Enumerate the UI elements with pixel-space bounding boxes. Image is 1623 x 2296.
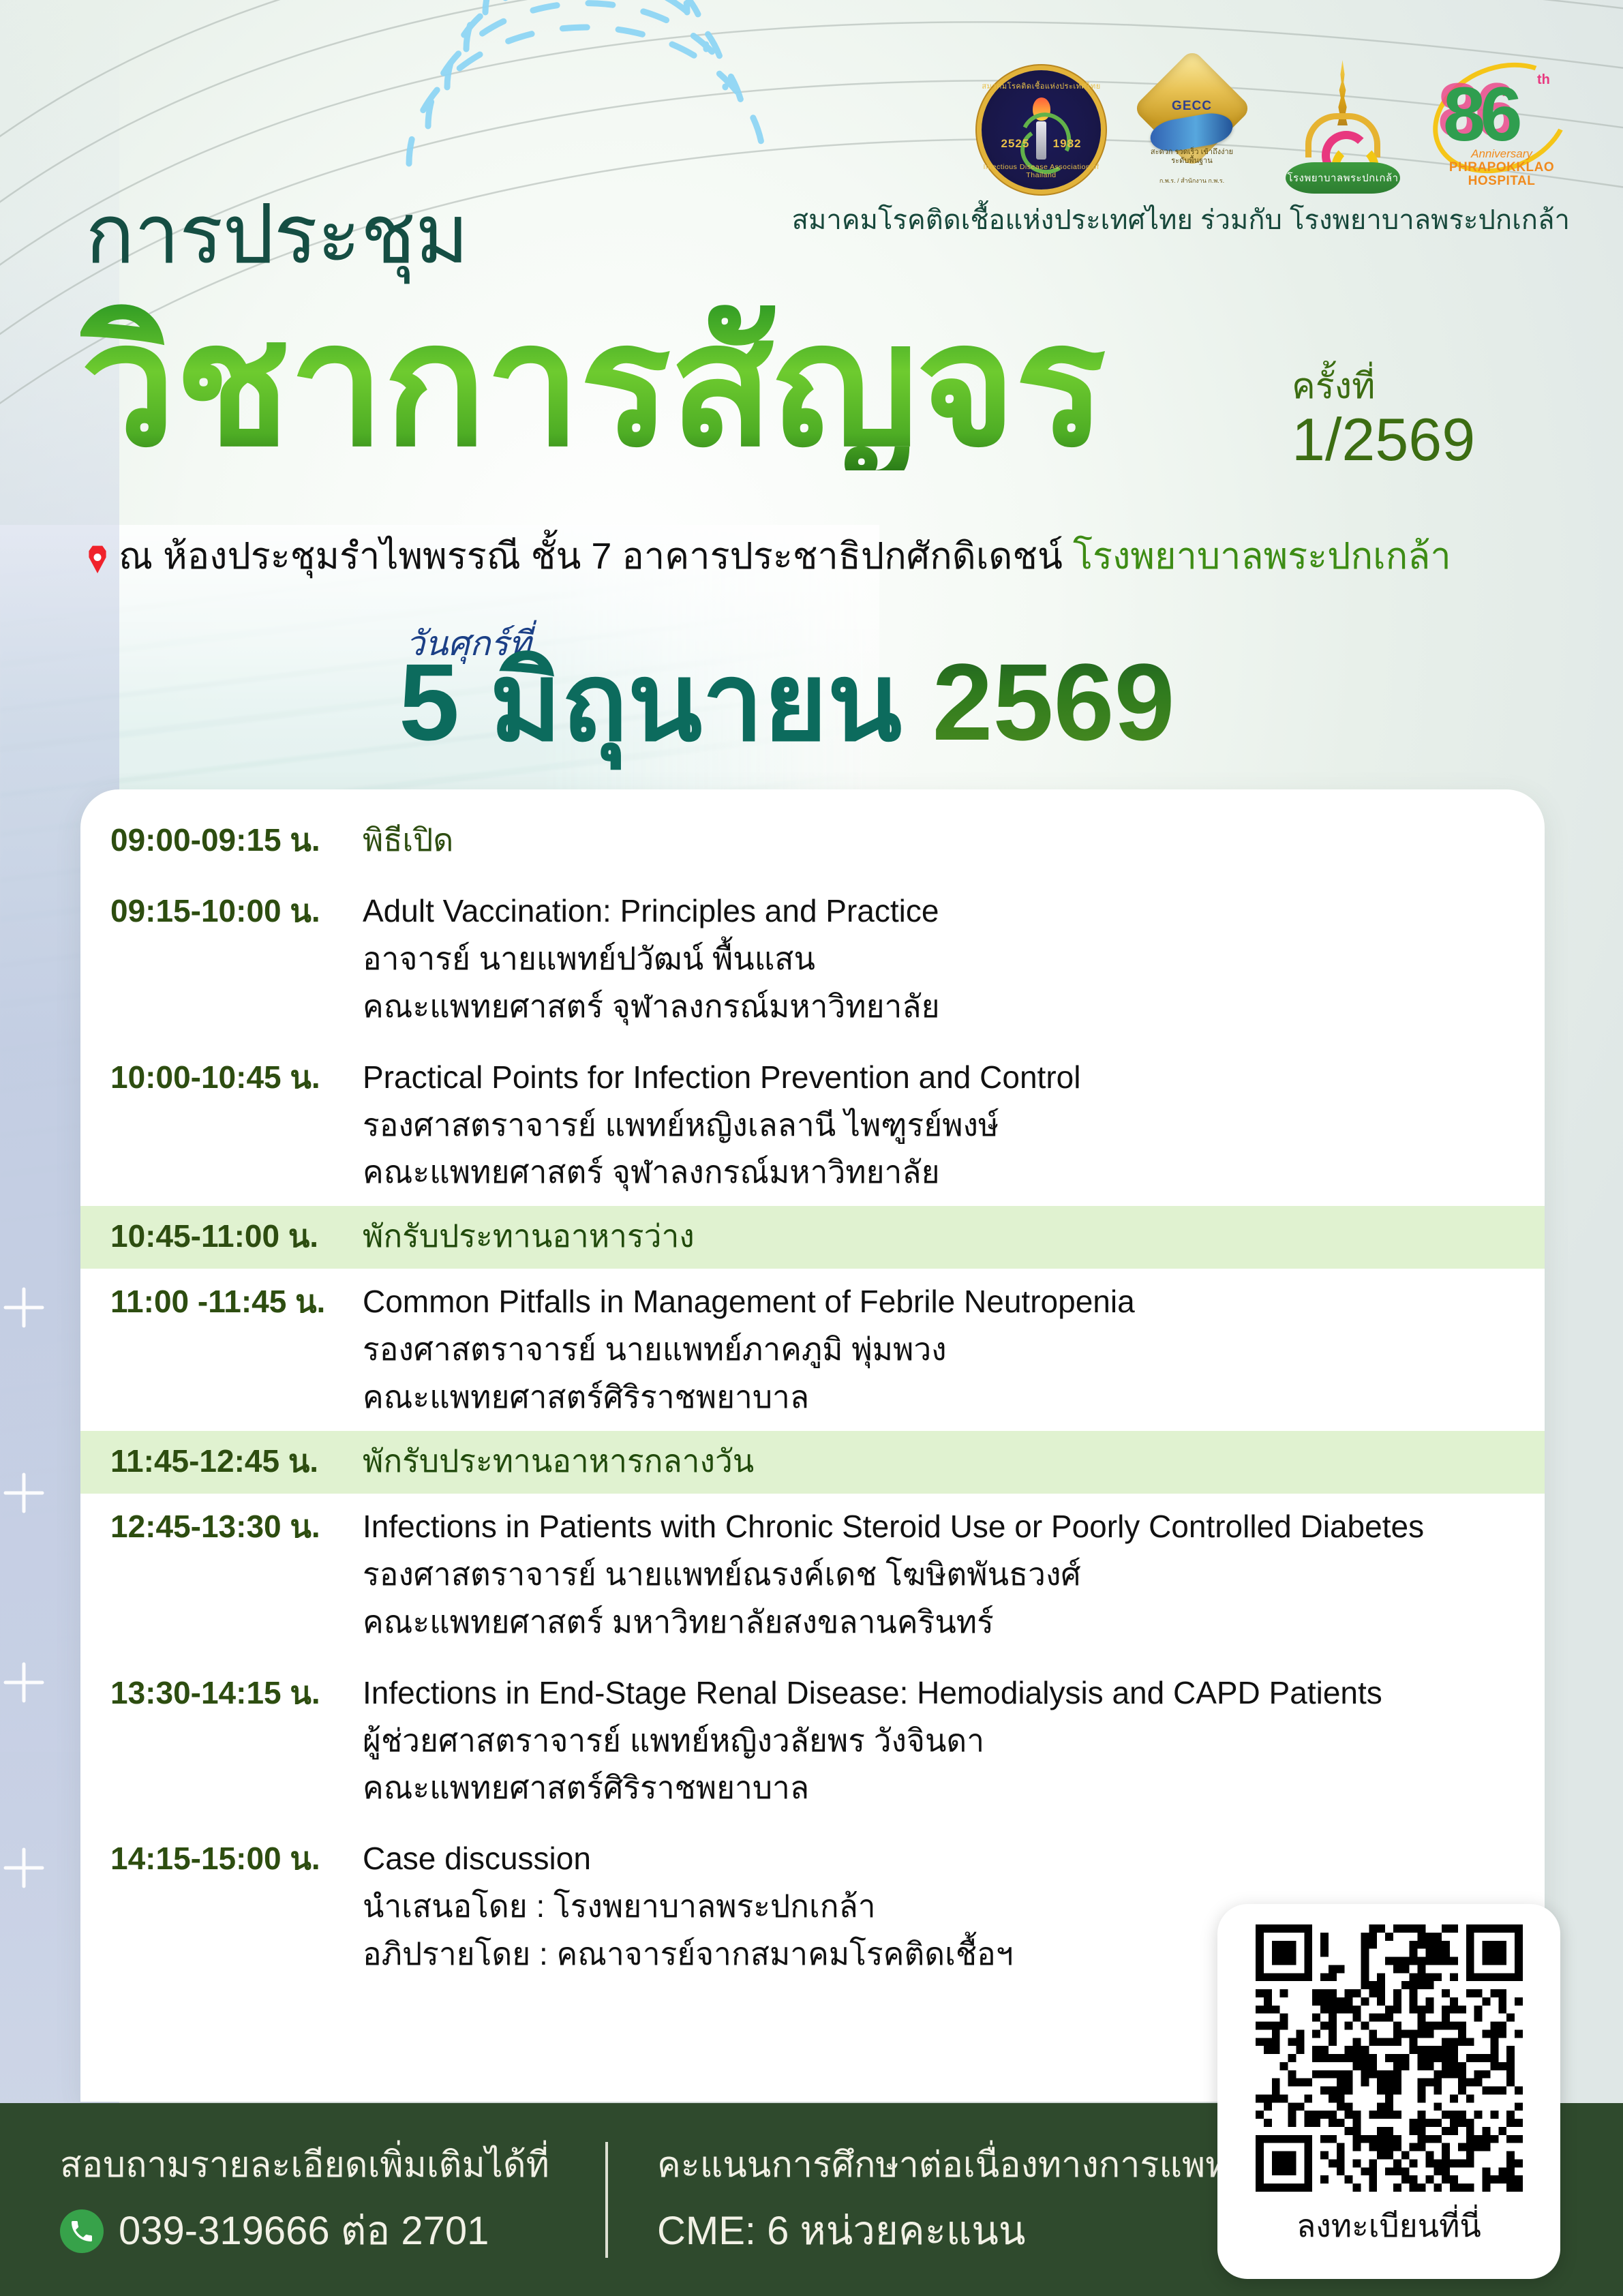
organizers-line: สมาคมโรคติดเชื้อแห่งประเทศไทย ร่วมกับ โร… [792,198,1570,241]
schedule-body: Practical Points for Infection Preventio… [363,1054,1515,1197]
pkk-ribbon: โรงพยาบาลพระปกเกล้า [1286,162,1400,194]
ida-top-text: สมาคมโรคติดเชื้อแห่งประเทศไทย [982,80,1101,92]
ida-thailand-logo: สมาคมโรคติดเชื้อแห่งประเทศไทย 2525 1982 … [982,70,1101,190]
schedule-body: Adult Vaccination: Principles and Practi… [363,888,1515,1031]
schedule-time: 09:15-10:00 น. [110,888,363,935]
venue-line: ณ ห้องประชุมรำไพพรรณี ชั้น 7 อาคารประชาธ… [87,526,1451,585]
schedule-topic: Infections in Patients with Chronic Ster… [363,1503,1515,1551]
schedule-topic: พักรับประทานอาหารกลางวัน [363,1438,1515,1485]
schedule-time: 11:00 -11:45 น. [110,1278,363,1326]
schedule-affiliation: คณะแพทยศาสตร์ จุฬาลงกรณ์มหาวิทยาลัย [363,983,1515,1031]
schedule-time: 14:15-15:00 น. [110,1835,363,1883]
schedule-row: 12:45-13:30 น.Infections in Patients wit… [80,1500,1545,1649]
edition-number: 1/2569 [1292,408,1475,471]
row-spacer [80,867,1545,885]
page-title-kicker: การประชุม [85,194,468,275]
registration-qr-card[interactable]: ลงทะเบียนที่นี่ [1217,1904,1560,2279]
cme-column: คะแนนการศึกษาต่อเนื่องทางการแพทย์ CME: 6… [608,2143,1271,2256]
venue-text: ณ ห้องประชุมรำไพพรรณี ชั้น 7 อาคารประชาธ… [119,536,1073,577]
schedule-row: 11:45-12:45 น.พักรับประทานอาหารกลางวัน [80,1431,1545,1494]
86th-anniversary-logo: 86 86 th Anniversary PHRAPOKKLAO HOSPITA… [1434,60,1570,190]
schedule-topic: Case discussion [363,1835,1515,1883]
schedule-speaker: รองศาสตราจารย์ นายแพทย์ภาคภูมิ พุ่มพวง [363,1326,1515,1374]
schedule-topic: Common Pitfalls in Management of Febrile… [363,1278,1515,1326]
footer-divider [605,2142,608,2258]
edition-block: ครั้งที่ 1/2569 [1292,368,1475,471]
gecc-award-logo: GECC สะดวก รวดเร็ว เข้าถึงง่าย ระดับพื้น… [1132,63,1252,190]
event-date: 5 มิถุนายน 2569 [399,648,1175,757]
schedule-body: Infections in Patients with Chronic Ster… [363,1503,1515,1646]
schedule-topic: Adult Vaccination: Principles and Practi… [363,888,1515,935]
schedule-affiliation: คณะแพทยศาสตร์ศิริราชพยาบาล [363,1374,1515,1421]
schedule-row: 10:00-10:45 น.Practical Points for Infec… [80,1051,1545,1200]
qr-code[interactable] [1256,1924,1523,2192]
row-spacer [80,1815,1545,1832]
row-spacer [80,1033,1545,1051]
schedule-body: Infections in End-Stage Renal Disease: H… [363,1670,1515,1813]
row-spacer [80,1649,1545,1667]
schedule-body: Common Pitfalls in Management of Febrile… [363,1278,1515,1421]
contact-title: สอบถามรายละเอียดเพิ่มเติมได้ที่ [60,2143,605,2188]
schedule-speaker: รองศาสตราจารย์ นายแพทย์ณรงค์เดช โฆษิตพัน… [363,1551,1515,1599]
location-pin-icon [87,545,108,573]
venue-hospital: โรงพยาบาลพระปกเกล้า [1073,536,1451,577]
schedule-time: 12:45-13:30 น. [110,1503,363,1551]
contact-phone: 039-319666 ต่อ 2701 [119,2207,489,2256]
schedule-body: พักรับประทานอาหารว่าง [363,1213,1515,1260]
date-day: 5 [399,641,459,763]
schedule-row: 09:15-10:00 น.Adult Vaccination: Princip… [80,885,1545,1033]
edition-label: ครั้งที่ [1292,368,1475,406]
date-year: 2569 [932,641,1175,763]
schedule-time: 09:00-09:15 น. [110,817,363,864]
ida-years: 2525 1982 [982,137,1101,151]
schedule-topic: Infections in End-Stage Renal Disease: H… [363,1670,1515,1717]
contact-phone-row: 039-319666 ต่อ 2701 [60,2207,605,2256]
phone-icon [60,2209,104,2253]
schedule-time: 13:30-14:15 น. [110,1670,363,1717]
schedule-time: 11:45-12:45 น. [110,1438,363,1485]
cme-value: CME: 6 หน่วยคะแนน [657,2207,1271,2256]
phrapokklao-hospital-logo: โรงพยาบาลพระปกเกล้า [1283,60,1402,190]
schedule-topic: Practical Points for Infection Preventio… [363,1054,1515,1102]
torch-icon [1023,97,1060,163]
date-month: มิถุนายน [489,641,902,763]
anniversary-hospital-name: PHRAPOKKLAO HOSPITAL [1434,161,1570,188]
gecc-subtitle: สะดวก รวดเร็ว เข้าถึงง่าย ระดับพื้นฐาน [1132,148,1252,167]
gecc-footer-text: ก.พ.ร. / สำนักงาน ก.พ.ร. [1132,176,1252,185]
schedule-affiliation: คณะแพทยศาสตร์ มหาวิทยาลัยสงขลานครินทร์ [363,1599,1515,1646]
schedule-affiliation: คณะแพทยศาสตร์ศิริราชพยาบาล [363,1764,1515,1812]
schedule-affiliation: คณะแพทยศาสตร์ จุฬาลงกรณ์มหาวิทยาลัย [363,1149,1515,1196]
schedule-topic: พักรับประทานอาหารว่าง [363,1213,1515,1260]
schedule-row: 10:45-11:00 น.พักรับประทานอาหารว่าง [80,1206,1545,1269]
schedule-row: 11:00 -11:45 น.Common Pitfalls in Manage… [80,1275,1545,1424]
schedule-rows: 09:00-09:15 น.พิธีเปิด09:15-10:00 น.Adul… [80,789,1545,1981]
ida-bottom-text: Infectious Disease Association of Thaila… [982,163,1101,179]
schedule-row: 13:30-14:15 น.Infections in End-Stage Re… [80,1667,1545,1815]
cme-title: คะแนนการศึกษาต่อเนื่องทางการแพทย์ [657,2143,1271,2188]
anniversary-number: 86 [1443,76,1517,153]
gecc-label: GECC [1132,99,1252,114]
schedule-speaker: รองศาสตราจารย์ แพทย์หญิงเลลานี ไพฑูรย์พง… [363,1102,1515,1149]
schedule-speaker: ผู้ช่วยศาสตราจารย์ แพทย์หญิงวลัยพร วังจิ… [363,1717,1515,1765]
schedule-time: 10:45-11:00 น. [110,1213,363,1260]
anniversary-word: Anniversary [1434,147,1570,161]
schedule-topic: พิธีเปิด [363,817,1515,864]
schedule-time: 10:00-10:45 น. [110,1054,363,1102]
qr-label: ลงทะเบียนที่นี่ [1296,2201,1481,2251]
pkk-ribbon-text: โรงพยาบาลพระปกเกล้า [1286,162,1400,194]
schedule-body: พิธีเปิด [363,817,1515,864]
contact-column: สอบถามรายละเอียดเพิ่มเติมได้ที่ 039-3196… [0,2143,605,2256]
partner-logos: สมาคมโรคติดเชื้อแห่งประเทศไทย 2525 1982 … [982,60,1570,190]
page-title: วิชาการสัญจร [80,300,1105,470]
conference-poster: สมาคมโรคติดเชื้อแห่งประเทศไทย 2525 1982 … [0,0,1623,2296]
anniversary-ordinal: th [1537,72,1550,88]
schedule-speaker: อาจารย์ นายแพทย์ปวัฒน์ พื้นแสน [363,935,1515,983]
schedule-row: 09:00-09:15 น.พิธีเปิด [80,814,1545,867]
schedule-body: พักรับประทานอาหารกลางวัน [363,1438,1515,1485]
